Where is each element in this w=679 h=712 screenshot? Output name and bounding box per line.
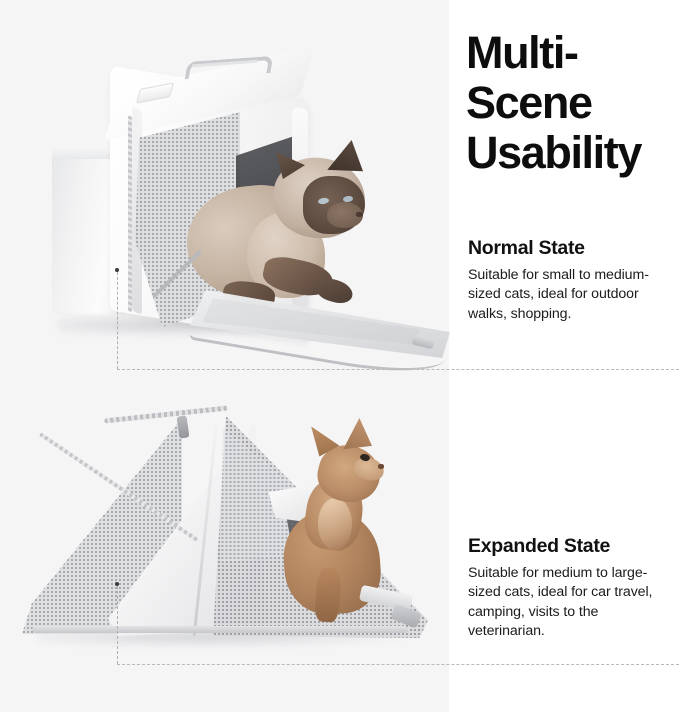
section-heading-normal: Normal State (468, 237, 673, 259)
callout-line-vertical-normal (117, 272, 118, 369)
cat-front-leg (314, 567, 342, 623)
callout-line-vertical-expanded (117, 586, 118, 664)
product-image-normal-state (40, 50, 430, 370)
cat-ear-right (325, 140, 363, 174)
cat-chest-highlight (318, 498, 352, 550)
section-body-normal: Suitable for small to medium-sized cats,… (468, 266, 673, 324)
cat-nose (378, 464, 384, 469)
callout-line-horizontal-normal (117, 369, 679, 370)
section-expanded-state: Expanded State Suitable for medium to la… (468, 535, 673, 641)
infographic-stage: Multi- Scene Usability Normal State Suit… (0, 0, 679, 712)
cat-nose (356, 212, 363, 217)
product-image-expanded-state (8, 398, 438, 663)
page-title: Multi- Scene Usability (466, 28, 679, 178)
carrier-zipper-track (128, 115, 132, 313)
section-normal-state: Normal State Suitable for small to mediu… (468, 237, 673, 324)
section-heading-expanded: Expanded State (468, 535, 673, 557)
expanded-bottom-hem (32, 626, 408, 633)
callout-line-horizontal-expanded (117, 664, 679, 665)
expanded-zipper-spine (104, 406, 228, 424)
cat-expanded-state (260, 418, 410, 608)
section-body-expanded: Suitable for medium to large-sized cats,… (468, 564, 673, 641)
expanded-zipper-slider (177, 415, 190, 438)
cat-ear-right (342, 418, 372, 452)
